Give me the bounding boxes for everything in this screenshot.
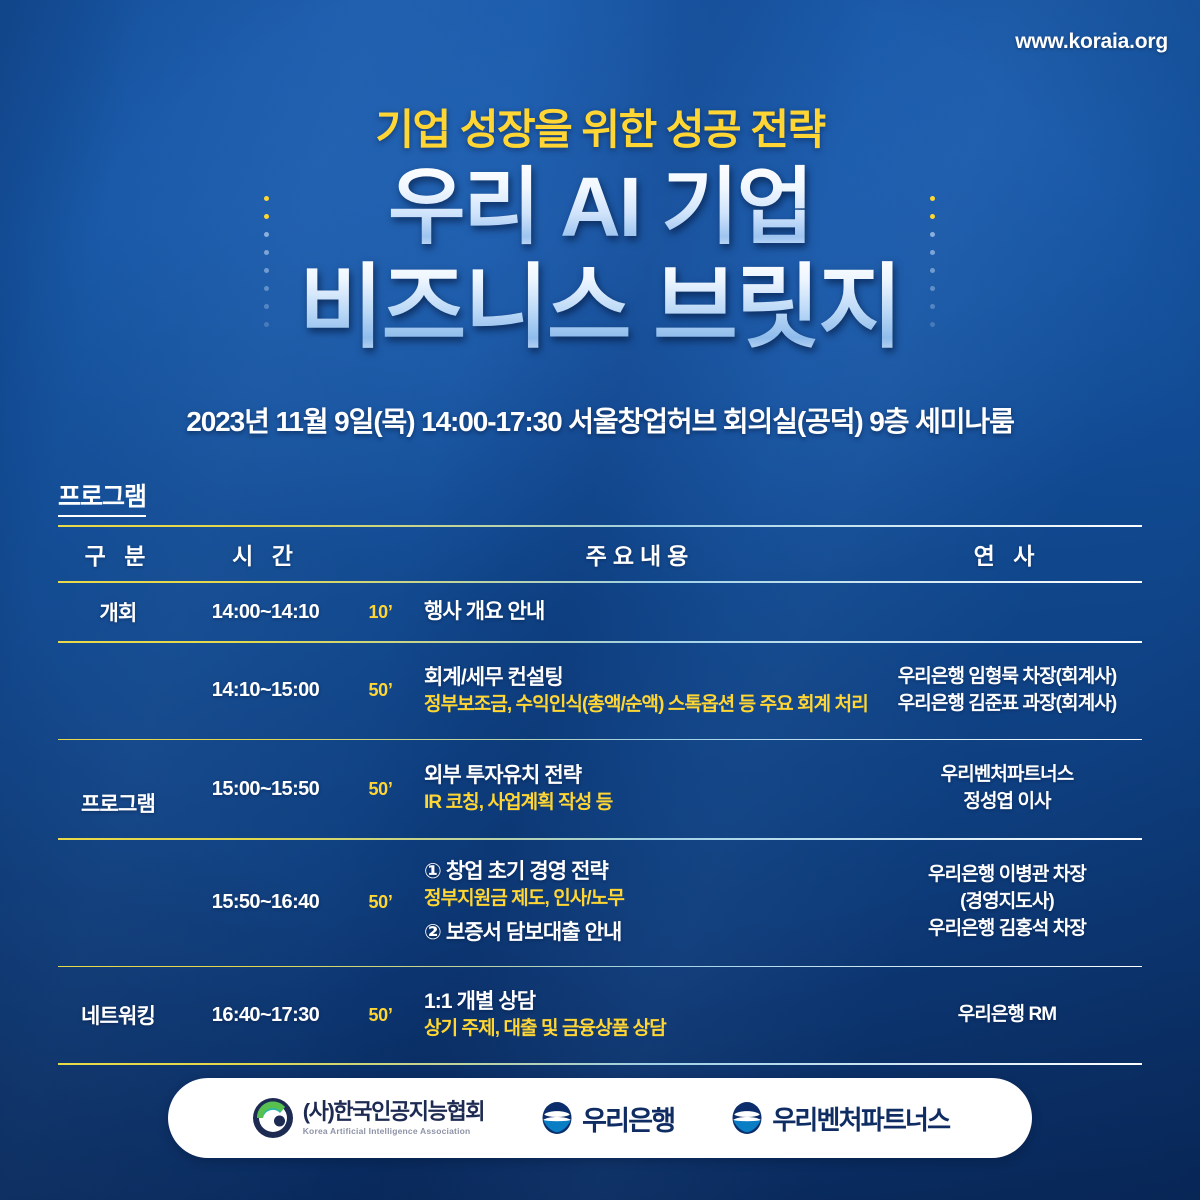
logo-woori-venture-partners[interactable]: 우리벤처파트너스 (730, 1100, 949, 1137)
woori-bank-name: 우리은행 (582, 1099, 674, 1138)
table-row: 15:50~16:40 50’ ① 창업 초기 경영 전략 정부지원금 제도, … (58, 840, 1142, 966)
row-content-head: 외부 투자유치 전략 (424, 762, 872, 790)
row-speaker-line: 우리은행 RM (872, 1002, 1142, 1029)
row-duration: 50’ (353, 892, 408, 913)
koraia-logo-text: (사)한국인공지능협회 Korea Artificial Intelligenc… (303, 1101, 484, 1136)
woori-venture-logo-icon (730, 1101, 764, 1135)
row-speaker-line: 우리은행 김준표 과장(회계사) (872, 691, 1142, 718)
row-speaker-line: 우리은행 이병관 차장 (872, 862, 1142, 889)
dot-decoration-right (930, 196, 936, 340)
decoration-dot (930, 196, 935, 201)
row-category: 개회 (58, 597, 178, 627)
decoration-dot (264, 286, 269, 291)
sponsor-logo-bar: (사)한국인공지능협회 Korea Artificial Intelligenc… (168, 1078, 1032, 1158)
koraia-name-kr: (사)한국인공지능협회 (303, 1101, 484, 1123)
row-content: ① 창업 초기 경영 전략 정부지원금 제도, 인사/노무 ② 보증서 담보대출… (408, 858, 872, 947)
decoration-dot (930, 214, 935, 219)
decoration-dot (264, 304, 269, 309)
table-header-row: 구 분 시 간 주요내용 연 사 (58, 527, 1142, 581)
site-url[interactable]: www.koraia.org (1015, 30, 1168, 54)
row-speaker: 우리은행 임형묵 차장(회계사) 우리은행 김준표 과장(회계사) (872, 664, 1142, 718)
decoration-dot (930, 304, 935, 309)
program-section-title: 프로그램 (58, 477, 146, 517)
row-content: 행사 개요 안내 (408, 598, 872, 626)
woori-logo-icon (540, 1101, 574, 1135)
row-speaker: 우리은행 RM (872, 1002, 1142, 1029)
decoration-dot (930, 322, 935, 327)
program-group: 프로그램 14:10~15:00 50’ 회계/세무 컨설팅 정부보조금, 수익… (58, 643, 1142, 966)
woori-venture-name: 우리벤처파트너스 (772, 1100, 949, 1137)
row-speaker: 우리벤처파트너스 정성엽 이사 (872, 762, 1142, 816)
event-date-venue: 2023년 11월 9일(목) 14:00-17:30 서울창업허브 회의실(공… (0, 400, 1200, 440)
logo-koraia[interactable]: (사)한국인공지능협회 Korea Artificial Intelligenc… (251, 1096, 484, 1140)
row-content-head: 1:1 개별 상담 (424, 988, 872, 1016)
row-speaker-line: 우리은행 김홍석 차장 (872, 916, 1142, 943)
row-content-head: ① 창업 초기 경영 전략 (424, 858, 872, 886)
decoration-dot (930, 250, 935, 255)
dot-decoration-left (264, 196, 270, 340)
row-content-head: 회계/세무 컨설팅 (424, 664, 872, 692)
table-row: 15:00~15:50 50’ 외부 투자유치 전략 IR 코칭, 사업계획 작… (58, 740, 1142, 838)
logo-woori-bank[interactable]: 우리은행 (540, 1099, 674, 1138)
koraia-name-en: Korea Artificial Intelligence Associatio… (303, 1127, 484, 1136)
row-content-sub: 상기 주제, 대출 및 금융상품 상담 (424, 1016, 872, 1042)
row-content-extra: ② 보증서 담보대출 안내 (424, 919, 872, 947)
column-header-time: 시 간 (178, 537, 353, 571)
decoration-dot (264, 232, 269, 237)
row-time: 14:00~14:10 (178, 601, 353, 624)
row-speaker-line: 우리은행 임형묵 차장(회계사) (872, 664, 1142, 691)
row-speaker-line: 우리벤처파트너스 (872, 762, 1142, 789)
row-content: 회계/세무 컨설팅 정부보조금, 수익인식(총액/순액) 스톡옵션 등 주요 회… (408, 664, 872, 717)
hero-title-line-2: 비즈니스 브릿지 (0, 256, 1200, 361)
row-content-sub: 정부지원금 제도, 인사/노무 (424, 886, 872, 912)
row-duration: 50’ (353, 680, 408, 701)
decoration-dot (930, 286, 935, 291)
decoration-dot (264, 250, 269, 255)
decoration-dot (264, 268, 269, 273)
row-content-sub: IR 코칭, 사업계획 작성 등 (424, 790, 872, 816)
row-speaker-line: (경영지도사) (872, 889, 1142, 916)
row-time: 14:10~15:00 (178, 679, 353, 702)
decoration-dot (264, 322, 269, 327)
row-duration: 50’ (353, 1005, 408, 1026)
column-header-speaker: 연 사 (872, 537, 1142, 571)
row-time: 16:40~17:30 (178, 1004, 353, 1027)
decoration-dot (930, 268, 935, 273)
table-rule-bottom (58, 1063, 1142, 1065)
column-header-category: 구 분 (58, 537, 178, 571)
row-time: 15:00~15:50 (178, 778, 353, 801)
program-table: 구 분 시 간 주요내용 연 사 개회 14:00~14:10 10’ 행사 개… (58, 525, 1142, 1065)
table-row: 14:10~15:00 50’ 회계/세무 컨설팅 정부보조금, 수익인식(총액… (58, 643, 1142, 739)
row-category: 네트워킹 (58, 1000, 178, 1030)
row-content: 1:1 개별 상담 상기 주제, 대출 및 금융상품 상담 (408, 988, 872, 1041)
row-content-sub: 정부보조금, 수익인식(총액/순액) 스톡옵션 등 주요 회계 처리 (424, 692, 872, 718)
hero-title-line-1: 우리 AI 기업 (0, 160, 1200, 256)
hero-kicker: 기업 성장을 위한 성공 전략 (0, 96, 1200, 157)
decoration-dot (930, 232, 935, 237)
row-duration: 50’ (353, 779, 408, 800)
hero-title: 우리 AI 기업 비즈니스 브릿지 (0, 160, 1200, 361)
row-duration: 10’ (353, 602, 408, 623)
row-content: 외부 투자유치 전략 IR 코칭, 사업계획 작성 등 (408, 762, 872, 815)
decoration-dot (264, 196, 269, 201)
row-content-head: 행사 개요 안내 (424, 598, 872, 626)
row-speaker: 우리은행 이병관 차장 (경영지도사) 우리은행 김홍석 차장 (872, 862, 1142, 943)
poster-canvas: www.koraia.org 기업 성장을 위한 성공 전략 우리 AI 기업 … (0, 0, 1200, 1200)
column-header-content: 주요내용 (408, 537, 872, 571)
table-row: 개회 14:00~14:10 10’ 행사 개요 안내 (58, 583, 1142, 641)
decoration-dot (264, 214, 269, 219)
row-speaker-line: 정성엽 이사 (872, 789, 1142, 816)
koraia-logo-icon (251, 1096, 295, 1140)
row-time: 15:50~16:40 (178, 891, 353, 914)
table-row: 네트워킹 16:40~17:30 50’ 1:1 개별 상담 상기 주제, 대출… (58, 967, 1142, 1063)
